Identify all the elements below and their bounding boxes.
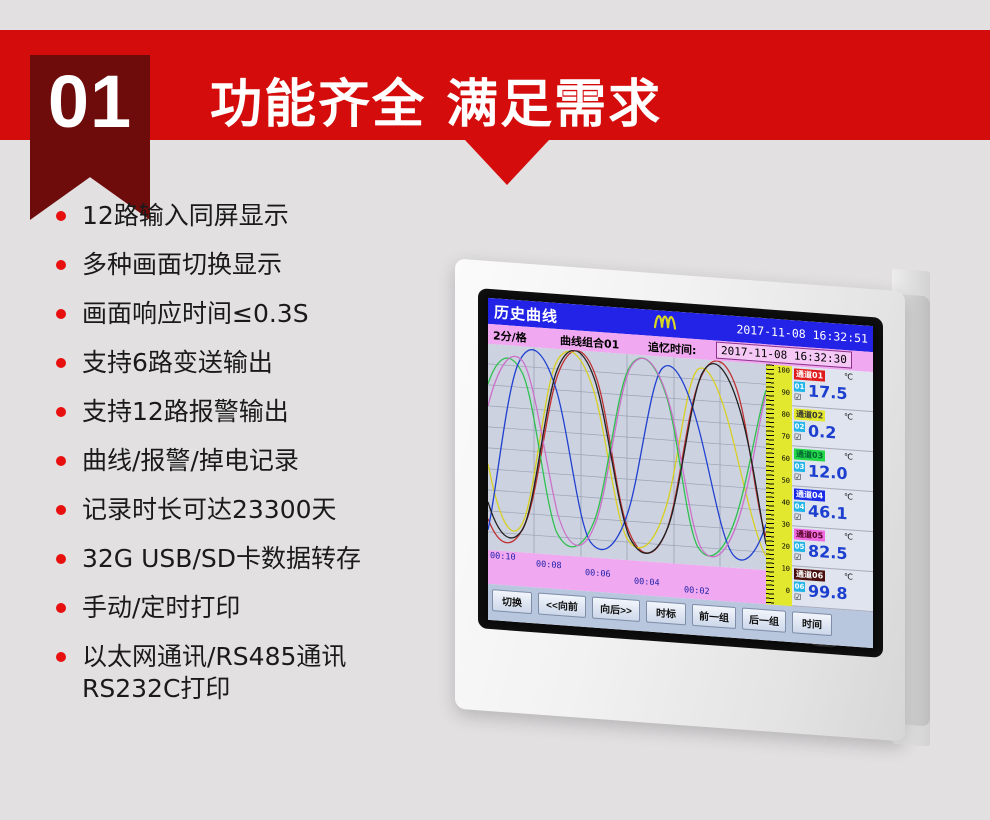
time-axis-label: 00:10 [490, 551, 516, 563]
value-axis-tick: 70 [782, 432, 790, 441]
bullet-dot-icon [56, 260, 66, 270]
bullet-dot-icon [56, 358, 66, 368]
channel-bar-indicator [861, 455, 872, 456]
bullet-dot-icon [56, 407, 66, 417]
feature-list: 12路输入同屏显示 多种画面切换显示 画面响应时间≤0.3S 支持6路变送输出 … [52, 200, 472, 722]
channel-value: 12.0 [808, 461, 847, 483]
channel-index: 03 [794, 461, 805, 472]
channel-row[interactable]: 通道02 ℃ 02 ☑ 0.2 [792, 406, 873, 452]
time-axis-label: 00:06 [585, 568, 611, 580]
channel-checkbox-icon[interactable]: ☑ [794, 392, 801, 402]
ribbon-number: 01 [30, 59, 150, 144]
channel-checkbox-icon[interactable]: ☑ [794, 592, 801, 602]
feature-text: 支持6路变送输出 [82, 348, 273, 377]
bullet-dot-icon [56, 309, 66, 319]
channel-unit: ℃ [844, 372, 853, 382]
feature-text: 支持12路报警输出 [82, 397, 289, 426]
value-axis: 100 90 80 70 60 50 40 30 20 10 0 [766, 364, 792, 606]
channel-row[interactable]: 通道05 ℃ 05 ☑ 82.5 [792, 526, 873, 572]
value-axis-tick: 90 [782, 388, 790, 397]
feature-text: 12路输入同屏显示 [82, 201, 289, 230]
list-item: 多种画面切换显示 [52, 249, 472, 281]
channel-name-badge: 通道03 [794, 448, 825, 461]
channel-value: 46.1 [808, 501, 847, 523]
value-axis-tick: 10 [782, 564, 790, 573]
channel-checkbox-icon[interactable]: ☑ [794, 432, 801, 442]
channel-bar-indicator [861, 415, 872, 416]
banner-title: 功能齐全 满足需求 [210, 62, 662, 137]
softkey-switch[interactable]: 切换 [492, 589, 532, 614]
value-axis-tick: 60 [782, 454, 790, 463]
trend-chart[interactable] [488, 344, 766, 570]
list-item: 支持6路变送输出 [52, 347, 472, 379]
channel-unit: ℃ [844, 572, 853, 582]
channel-bar-indicator [861, 575, 872, 576]
feature-text: 记录时长可达23300天 [82, 495, 337, 524]
channel-name-badge: 通道06 [794, 568, 825, 581]
bullet-dot-icon [56, 603, 66, 613]
channel-checkbox-icon[interactable]: ☑ [794, 472, 801, 482]
bullet-dot-icon [56, 554, 66, 564]
channel-value: 0.2 [808, 421, 836, 442]
channel-row[interactable]: 通道06 ℃ 06 ☑ 99.8 [792, 566, 873, 612]
list-item: 支持12路报警输出 [52, 396, 472, 428]
channel-index: 01 [794, 381, 805, 392]
channel-unit: ℃ [844, 492, 853, 502]
value-axis-tick: 30 [782, 520, 790, 529]
channel-bar-indicator [861, 495, 872, 496]
list-item: 画面响应时间≤0.3S [52, 298, 472, 330]
channel-checkbox-icon[interactable]: ☑ [794, 512, 801, 522]
softkey-next-group[interactable]: 后一组 [742, 608, 786, 633]
feature-text: 以太网通讯/RS485通讯 RS232C打印 [82, 642, 346, 703]
value-axis-tick: 50 [782, 476, 790, 485]
channel-index: 02 [794, 421, 805, 432]
channel-row[interactable]: 通道03 ℃ 03 ☑ 12.0 [792, 446, 873, 492]
channel-index: 05 [794, 541, 805, 552]
value-axis-tick: 80 [782, 410, 790, 419]
channel-name-badge: 通道05 [794, 528, 825, 541]
channel-row[interactable]: 通道01 ℃ 01 ☑ 17.5 [792, 366, 873, 412]
channel-name-badge: 通道01 [794, 368, 825, 381]
channel-value: 99.8 [808, 581, 847, 603]
channel-unit: ℃ [844, 452, 853, 462]
list-item: 32G USB/SD卡数据转存 [52, 543, 472, 575]
header-banner: 01 功能齐全 满足需求 [0, 30, 990, 140]
paperless-recorder-device: OHR 历史曲线 2017-11-08 16:32:51 2分/格 曲线组合01… [430, 265, 990, 735]
lcd-screen[interactable]: 历史曲线 2017-11-08 16:32:51 2分/格 曲线组合01 追忆时… [488, 298, 873, 648]
channel-panel: 通道01 ℃ 01 ☑ 17.5 通道02 ℃ 02 ☑ 0.2 [792, 366, 873, 612]
feature-text: 画面响应时间≤0.3S [82, 299, 309, 328]
channel-value: 82.5 [808, 541, 847, 563]
time-axis-label: 00:02 [684, 585, 710, 597]
page-title: 历史曲线 [494, 301, 558, 327]
bullet-dot-icon [56, 652, 66, 662]
channel-name-badge: 通道04 [794, 488, 825, 501]
channel-unit: ℃ [844, 412, 853, 422]
axis-ruler-ticks [766, 364, 774, 605]
wave-logo-icon [653, 314, 679, 335]
feature-text: 多种画面切换显示 [82, 250, 282, 279]
value-axis-tick: 100 [777, 366, 790, 375]
softkey-time[interactable]: 时间 [792, 611, 832, 636]
feature-text: 32G USB/SD卡数据转存 [82, 544, 361, 573]
list-item: 手动/定时打印 [52, 592, 472, 624]
bullet-dot-icon [56, 505, 66, 515]
value-axis-tick: 0 [786, 587, 790, 595]
bullet-dot-icon [56, 456, 66, 466]
trend-chart-svg [488, 344, 766, 570]
value-axis-tick: 20 [782, 542, 790, 551]
time-axis-label: 00:04 [634, 577, 660, 589]
channel-checkbox-icon[interactable]: ☑ [794, 552, 801, 562]
feature-text: 曲线/报警/掉电记录 [82, 446, 299, 475]
channel-bar-indicator [861, 535, 872, 536]
ribbon-badge: 01 [30, 55, 150, 220]
softkey-back[interactable]: <<向前 [538, 593, 586, 619]
softkey-forward[interactable]: 向后>> [592, 597, 640, 623]
feature-text: 手动/定时打印 [82, 593, 240, 622]
softkey-prev-group[interactable]: 前一组 [692, 604, 736, 629]
list-item: 以太网通讯/RS485通讯 RS232C打印 [52, 641, 472, 705]
time-axis-label: 00:08 [536, 559, 562, 571]
clock-display: 2017-11-08 16:32:51 [736, 322, 868, 346]
time-scale-label: 2分/格 [493, 327, 527, 345]
channel-bar-indicator [861, 375, 872, 376]
list-item: 记录时长可达23300天 [52, 494, 472, 526]
channel-index: 06 [794, 581, 805, 592]
softkey-timemark[interactable]: 时标 [646, 600, 686, 625]
banner-notch-arrow [465, 140, 549, 185]
channel-index: 04 [794, 501, 805, 512]
channel-value: 17.5 [808, 381, 847, 403]
value-axis-tick: 40 [782, 498, 790, 507]
channel-row[interactable]: 通道04 ℃ 04 ☑ 46.1 [792, 486, 873, 532]
channel-unit: ℃ [844, 532, 853, 542]
channel-name-badge: 通道02 [794, 408, 825, 421]
list-item: 曲线/报警/掉电记录 [52, 445, 472, 477]
list-item: 12路输入同屏显示 [52, 200, 472, 232]
bullet-dot-icon [56, 211, 66, 221]
